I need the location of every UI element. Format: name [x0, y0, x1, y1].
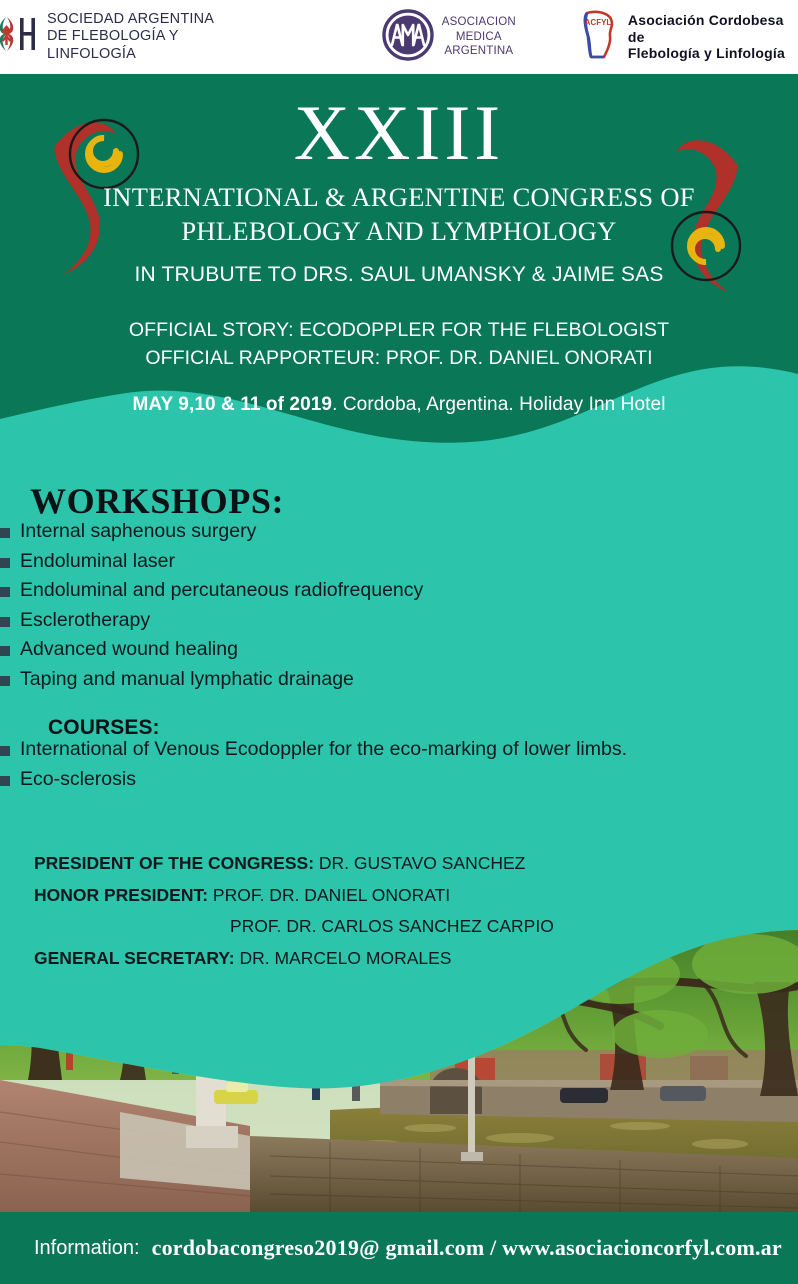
official-story-line: OFFICIAL STORY: ECODOPPLER FOR THE FLEBO…: [0, 317, 798, 345]
ama-circular-emblem-icon: [382, 9, 434, 66]
logo-acfyl-text: Asociación Cordobesa de Flebología y Lin…: [628, 12, 798, 62]
list-item: Endoluminal laser: [0, 552, 798, 572]
square-bullet-icon: [0, 746, 10, 756]
list-item-label: Advanced wound healing: [20, 640, 238, 660]
list-item-label: Eco-sclerosis: [20, 770, 136, 790]
square-bullet-icon: [0, 528, 10, 538]
list-item-label: Esclerotherapy: [20, 611, 150, 631]
official-row: PRESIDENT OF THE CONGRESS: DR. GUSTAVO S…: [34, 855, 734, 873]
logo-line-1: SOCIEDAD ARGENTINA: [47, 11, 264, 28]
logo-sociedad-argentina-text: SOCIEDAD ARGENTINA DE FLEBOLOGÍA Y LINFO…: [47, 11, 264, 62]
acfyl-cordoba-map-icon: ACFYL: [578, 9, 620, 66]
list-item-label: International of Venous Ecodoppler for t…: [20, 740, 627, 760]
workshops-list: Internal saphenous surgery Endoluminal l…: [0, 522, 798, 689]
logo-asociacion-medica-argentina: ASOCIACION MEDICA ARGENTINA: [382, 9, 516, 66]
cordoba-canal-photo: [0, 930, 798, 1212]
photo-illustration: [0, 930, 798, 1212]
tribute-line: IN TRUBUTE TO DRS. SAUL UMANSKY & JAIME …: [0, 261, 798, 288]
square-bullet-icon: [0, 558, 10, 568]
logo-line-1: Asociación Cordobesa de: [628, 12, 798, 46]
logo-line-2: DE FLEBOLOGÍA Y LINFOLOGÍA: [47, 28, 264, 62]
congress-title-line-1: INTERNATIONAL & ARGENTINE CONGRESS OF: [0, 180, 798, 214]
date-bold-text: MAY 9,10 & 11 of 2019: [132, 394, 332, 415]
list-item-label: Endoluminal laser: [20, 552, 175, 572]
workshops-heading: WORKSHOPS:: [30, 480, 798, 522]
logo-sociedad-argentina-flebologia: SOCIEDAD ARGENTINA DE FLEBOLOGÍA Y LINFO…: [0, 11, 264, 62]
square-bullet-icon: [0, 617, 10, 627]
list-item: Endoluminal and percutaneous radiofreque…: [0, 581, 798, 601]
list-item-label: Internal saphenous surgery: [20, 522, 256, 542]
square-bullet-icon: [0, 587, 10, 597]
program-content: WORKSHOPS: Internal saphenous surgery En…: [0, 480, 798, 799]
logo-line-2: Flebología y Linfología: [628, 45, 798, 62]
contact-email-website[interactable]: cordobacongreso2019@ gmail.com / www.aso…: [152, 1235, 782, 1261]
list-item: Advanced wound healing: [0, 640, 798, 660]
official-role-label: HONOR PRESIDENT:: [34, 885, 208, 905]
list-item: Internal saphenous surgery: [0, 522, 798, 542]
congress-poster: SOCIEDAD ARGENTINA DE FLEBOLOGÍA Y LINFO…: [0, 0, 798, 1284]
courses-list: International of Venous Ecodoppler for t…: [0, 740, 798, 789]
courses-heading: COURSES:: [48, 716, 798, 740]
logo-line-2: MEDICA: [442, 30, 516, 44]
official-person-name: DR. GUSTAVO SANCHEZ: [314, 853, 525, 873]
logo-asociacion-cordobesa: ACFYL Asociación Cordobesa de Flebología…: [578, 9, 798, 66]
square-bullet-icon: [0, 646, 10, 656]
list-item: Esclerotherapy: [0, 611, 798, 631]
list-item: Taping and manual lymphatic drainage: [0, 670, 798, 690]
footer-contact-bar: Information: cordobacongreso2019@ gmail.…: [0, 1212, 798, 1284]
list-item-label: Endoluminal and percutaneous radiofreque…: [20, 581, 423, 601]
official-info-block: OFFICIAL STORY: ECODOPPLER FOR THE FLEBO…: [0, 317, 798, 372]
roman-numeral-title: XXIII: [0, 96, 798, 171]
logo-line-1: ASOCIACION: [442, 15, 516, 29]
list-item: International of Venous Ecodoppler for t…: [0, 740, 798, 760]
official-person-name: PROF. DR. DANIEL ONORATI: [208, 885, 450, 905]
sa-flebologia-emblem-icon: [0, 14, 38, 59]
hero-headline-block: XXIII INTERNATIONAL & ARGENTINE CONGRESS…: [0, 96, 798, 416]
logo-ama-text: ASOCIACION MEDICA ARGENTINA: [442, 15, 516, 58]
list-item: Eco-sclerosis: [0, 770, 798, 790]
sponsor-logo-bar: SOCIEDAD ARGENTINA DE FLEBOLOGÍA Y LINFO…: [0, 0, 798, 74]
square-bullet-icon: [0, 776, 10, 786]
date-venue-line: MAY 9,10 & 11 of 2019. Cordoba, Argentin…: [0, 394, 798, 416]
official-rapporteur-line: OFFICIAL RAPPORTEUR: PROF. DR. DANIEL ON…: [0, 345, 798, 373]
acfyl-badge-text: ACFYL: [585, 18, 612, 27]
official-row: HONOR PRESIDENT: PROF. DR. DANIEL ONORAT…: [34, 887, 734, 905]
square-bullet-icon: [0, 676, 10, 686]
information-label: Information:: [34, 1237, 140, 1260]
logo-line-3: ARGENTINA: [442, 44, 516, 58]
venue-text: . Cordoba, Argentina. Holiday Inn Hotel: [332, 394, 665, 415]
congress-title-line-2: PHLEBOLOGY AND LYMPHOLOGY: [0, 214, 798, 248]
list-item-label: Taping and manual lymphatic drainage: [20, 670, 354, 690]
official-role-label: PRESIDENT OF THE CONGRESS:: [34, 853, 314, 873]
